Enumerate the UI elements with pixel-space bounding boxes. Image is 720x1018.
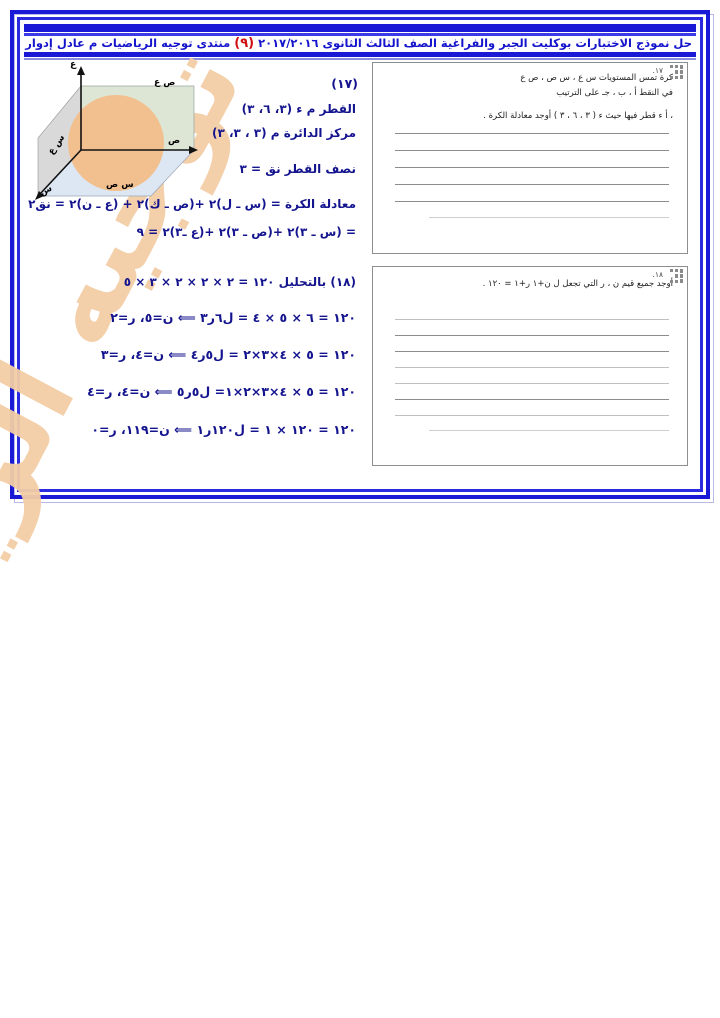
answer-line-short[interactable] bbox=[429, 217, 669, 218]
header-band-top bbox=[24, 24, 696, 32]
solution-q17-number: (١٧) bbox=[331, 76, 358, 91]
solution-q18-line-3: ١٢٠ = ٥ × ٤×٣×٢×١= ل٥ر٥ ⟸ ن=٤، ر=٤ bbox=[87, 384, 356, 399]
resize-grip-bottom-icon[interactable] bbox=[669, 65, 683, 79]
solution-q18-line-1: ١٢٠ = ٦ × ٥ × ٤ = ل٦ر٣ ⟸ ن=٥، ر=٢ bbox=[110, 310, 356, 325]
solution-q18-number: (١٨) bbox=[330, 275, 356, 289]
question-17-line-2: في النقط أ ، ب ، جـ على الترتيب bbox=[397, 86, 673, 101]
solution-q18-line-2: ١٢٠ = ٥ × ٤×٣×٢ = ل٥ر٤ ⟸ ن=٤، ر=٣ bbox=[101, 347, 356, 362]
solution-q18-intro: بالتحليل ١٢٠ = ٢ × ٢ × ٢ × ٣ × ٥ bbox=[124, 275, 326, 289]
header-rule bbox=[24, 52, 696, 57]
resize-grip-bottom-icon[interactable] bbox=[669, 269, 683, 283]
question-18-line-1: أوجد جميع قيم ن ، ر التي تجعل ل ن+١ ر+١ … bbox=[397, 277, 673, 292]
question-box-17[interactable]: ١٧. كرة تمس المستويات س ع ، س ص ، ص ع في… bbox=[372, 62, 688, 254]
header-text-right: حل نموذج الاختبارات بوكليت الجبر والفراغ… bbox=[258, 36, 692, 50]
question-17-line-1: كرة تمس المستويات س ع ، س ص ، ص ع bbox=[397, 71, 673, 86]
page-title: حل نموذج الاختبارات بوكليت الجبر والفراغ… bbox=[28, 34, 692, 52]
question-17-line-3: ، أ ء قطر فيها حيث ء ( ٣ ، ٦ ، ٣ ) أوجد … bbox=[397, 109, 673, 124]
solution-line-4: معادلة الكرة = (س ـ ل)٢ +(ص ـ ك)٢ + (ع ـ… bbox=[28, 197, 356, 211]
solution-line-5: = (س ـ ٣)٢ +(ص ـ ٣)٢ +(ع ـ٣)٢ = ٩ bbox=[137, 225, 356, 239]
question-17-text: كرة تمس المستويات س ع ، س ص ، ص ع في الن… bbox=[397, 71, 673, 124]
header-text-left: منتدى توجيه الرياضيات م عادل إدوار bbox=[25, 36, 230, 50]
answer-lines-17[interactable] bbox=[373, 133, 687, 218]
solution-line-3: نصف القطر نق = ٣ bbox=[240, 162, 356, 176]
question-box-18[interactable]: ١٨. أوجد جميع قيم ن ، ر التي تجعل ل ن+١ … bbox=[372, 266, 688, 466]
document-page: حل نموذج الاختبارات بوكليت الجبر والفراغ… bbox=[0, 0, 720, 509]
solution-q18-line-4: ١٢٠ = ١٢٠ × ١ = ل١٢٠ر١ ⟸ ن=١١٩، ر=٠ bbox=[91, 422, 356, 437]
answer-line-short[interactable] bbox=[429, 430, 669, 431]
answer-lines-18[interactable] bbox=[373, 319, 687, 431]
solution-line-1: القطر م ء (٣، ٦، ٣) bbox=[242, 102, 356, 116]
question-18-text: أوجد جميع قيم ن ، ر التي تجعل ل ن+١ ر+١ … bbox=[397, 277, 673, 292]
solution-q18-heading: (١٨) بالتحليل ١٢٠ = ٢ × ٢ × ٢ × ٣ × ٥ bbox=[124, 275, 356, 289]
header-badge-number: (٩) bbox=[234, 36, 254, 51]
solution-line-2: مركز الدائرة م (٣ ، ٣، ٣) bbox=[212, 126, 356, 140]
solution-column: (١٧) القطر م ء (٣، ٦، ٣) مركز الدائرة م … bbox=[28, 62, 358, 482]
